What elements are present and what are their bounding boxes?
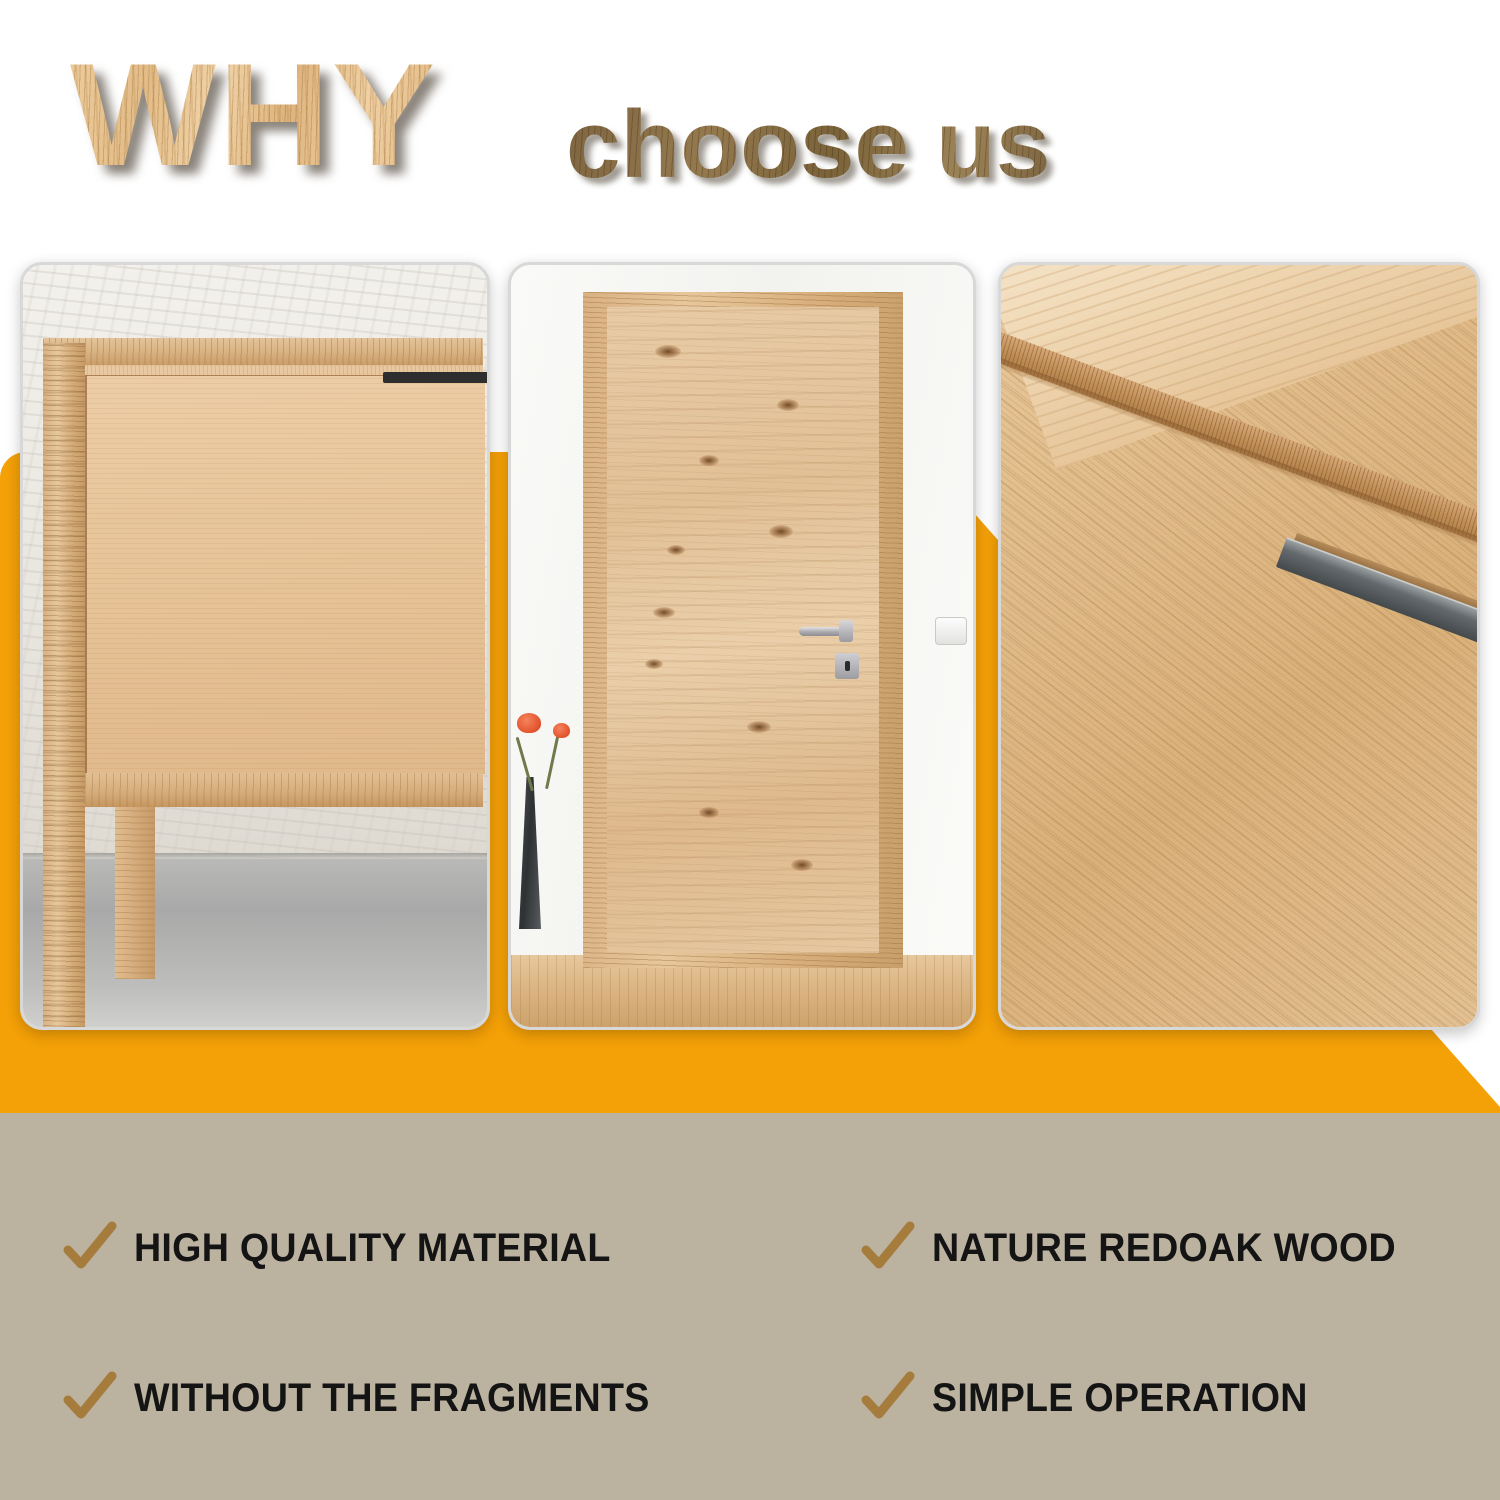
drawer-edge-closeup-photo — [1001, 265, 1477, 1027]
feature-item: NATURE REDOAK WOOD — [860, 1220, 1426, 1276]
check-icon — [860, 1370, 916, 1426]
feature-label: NATURE REDOAK WOOD — [932, 1226, 1396, 1271]
cabinet-handle — [383, 372, 487, 383]
feature-item: HIGH QUALITY MATERIAL — [62, 1220, 641, 1276]
cabinet-top-panel — [43, 338, 483, 366]
light-switch — [935, 617, 967, 645]
infographic-canvas: WHY choose us — [0, 0, 1500, 1500]
feature-item: WITHOUT THE FRAGMENTS — [62, 1370, 682, 1426]
interior-door-photo — [511, 265, 973, 1027]
feature-list: HIGH QUALITY MATERIAL NATURE REDOAK WOOD… — [0, 1113, 1500, 1500]
check-icon — [860, 1220, 916, 1276]
product-photo-sideboard — [20, 262, 490, 1030]
feature-item: SIMPLE OPERATION — [860, 1370, 1332, 1426]
page-title-rest: choose us — [566, 97, 1050, 193]
cabinet-door-panel — [85, 375, 485, 774]
sideboard-cabinet-photo — [23, 265, 487, 1027]
feature-label: SIMPLE OPERATION — [932, 1376, 1308, 1421]
cabinet-bottom-rail — [43, 773, 483, 807]
door-keyhole — [845, 661, 850, 671]
check-icon — [62, 1220, 118, 1276]
product-photo-edge-closeup — [998, 262, 1480, 1030]
poppy-flower — [517, 713, 541, 733]
concrete-floor — [23, 859, 487, 1027]
poppy-flower — [553, 723, 570, 738]
check-icon — [62, 1370, 118, 1426]
cabinet-left-post — [43, 343, 85, 1027]
product-photo-door — [508, 262, 976, 1030]
feature-label: WITHOUT THE FRAGMENTS — [134, 1376, 650, 1421]
cabinet-leg — [115, 807, 155, 979]
door-handle-rose — [839, 620, 853, 642]
header: WHY choose us — [0, 0, 1500, 230]
page-title-accent: WHY — [70, 42, 437, 188]
feature-label: HIGH QUALITY MATERIAL — [134, 1226, 611, 1271]
